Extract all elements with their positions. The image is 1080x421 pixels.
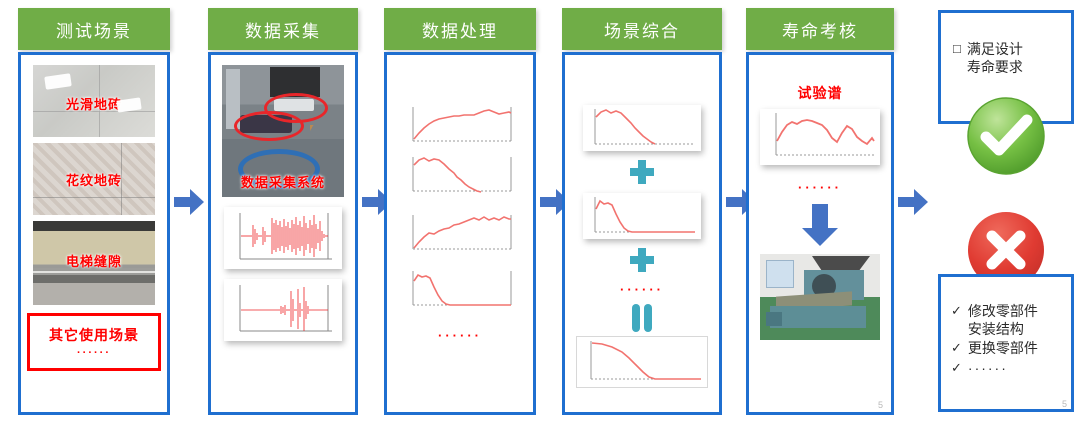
photo-caption-daq-system: 数据采集系统 bbox=[222, 172, 344, 191]
other-scenes-box: 其它使用场景 ······ bbox=[27, 313, 161, 371]
result-pass-line: □ 满足设计 寿命要求 bbox=[941, 13, 1071, 76]
flow-arrow-1 bbox=[172, 185, 206, 219]
photo-daq-system: 数据采集系统 bbox=[222, 65, 344, 197]
result-fail-item-3-text: ······ bbox=[968, 360, 1008, 378]
result-fail-item-1-line-2: 安装结构 bbox=[968, 321, 1024, 337]
photo-smooth-tile: 光滑地砖 bbox=[33, 65, 155, 137]
column-header-life-assessment: 寿命考核 bbox=[746, 8, 894, 50]
other-scenes-ellipsis: ······ bbox=[77, 347, 111, 359]
result-fail-item-3: ✓ ······ bbox=[951, 360, 1071, 378]
check-marker-icon-2: ✓ bbox=[951, 340, 962, 357]
green-check-badge-icon bbox=[966, 96, 1046, 176]
result-fail-item-1-text: 修改零部件 安装结构 bbox=[968, 303, 1038, 338]
result-pass-line-2: 寿命要求 bbox=[967, 59, 1023, 75]
photo-caption-smooth-tile: 光滑地砖 bbox=[33, 94, 155, 113]
chart-curve-drop bbox=[399, 267, 521, 313]
chart-test-spectrum bbox=[760, 109, 880, 165]
chart-synthesis-result bbox=[576, 336, 708, 388]
photo-patterned-tile: 花纹地砖 bbox=[33, 143, 155, 215]
result-fail-item-2-text: 更换零部件 bbox=[968, 340, 1038, 358]
check-marker-icon-3: ✓ bbox=[951, 360, 962, 377]
plus-icon-2 bbox=[627, 245, 657, 275]
column-body-scene-synthesis: ······ bbox=[562, 52, 722, 415]
photo-caption-patterned-tile: 花纹地砖 bbox=[33, 170, 155, 189]
page-number-right: 5 bbox=[1062, 399, 1067, 409]
result-pass-text: 满足设计 寿命要求 bbox=[967, 41, 1023, 76]
chart-vibration-waveform-2 bbox=[224, 279, 342, 341]
photo-caption-elevator-gap: 电梯缝隙 bbox=[33, 251, 155, 270]
result-fail-item-1-line-1: 修改零部件 bbox=[968, 303, 1038, 319]
result-fail-item-1: ✓ 修改零部件 安装结构 bbox=[951, 303, 1071, 338]
process-flow-diagram: 测试场景 光滑地砖 花纹地砖 电梯缝隙 其它使用场景 ······ bbox=[0, 0, 1080, 421]
data-processing-ellipsis: ······ bbox=[438, 329, 482, 342]
life-assessment-ellipsis: ······ bbox=[798, 181, 842, 194]
column-body-life-assessment: 试验谱 ······ bbox=[746, 52, 894, 415]
result-pass-line-1: 满足设计 bbox=[967, 41, 1023, 57]
chart-curve-fall bbox=[399, 153, 521, 199]
check-marker-icon-1: ✓ bbox=[951, 303, 962, 320]
column-data-acquisition: 数据采集 数据采集系统 bbox=[208, 0, 358, 421]
column-result: □ 满足设计 寿命要求 bbox=[938, 0, 1074, 421]
chart-vibration-waveform-1 bbox=[224, 207, 342, 269]
chart-synthesis-input-1 bbox=[583, 105, 701, 151]
chart-curve-rise-2 bbox=[399, 211, 521, 257]
column-header-test-scenes: 测试场景 bbox=[18, 8, 170, 50]
column-data-processing: 数据处理 bbox=[384, 0, 536, 421]
down-arrow-icon bbox=[800, 202, 840, 248]
chart-synthesis-input-2 bbox=[583, 193, 701, 239]
equals-icon bbox=[627, 304, 657, 332]
column-body-data-processing: ······ bbox=[384, 52, 536, 415]
highlight-oval-tablet bbox=[234, 111, 304, 141]
other-scenes-label: 其它使用场景 bbox=[49, 325, 139, 345]
flow-arrow-5 bbox=[896, 185, 930, 219]
photo-elevator-gap: 电梯缝隙 bbox=[33, 221, 155, 305]
result-fail-box: ✓ 修改零部件 安装结构 ✓ 更换零部件 ✓ ······ 5 bbox=[938, 274, 1074, 412]
column-life-assessment: 寿命考核 试验谱 ······ bbox=[746, 0, 894, 421]
column-body-test-scenes: 光滑地砖 花纹地砖 电梯缝隙 其它使用场景 ······ bbox=[18, 52, 170, 415]
column-scene-synthesis: 场景综合 bbox=[562, 0, 722, 421]
column-test-scenes: 测试场景 光滑地砖 花纹地砖 电梯缝隙 其它使用场景 ······ bbox=[18, 0, 170, 421]
square-marker-icon: □ bbox=[953, 41, 961, 57]
photo-vibration-test-bench bbox=[760, 254, 880, 340]
column-body-data-acquisition: 数据采集系统 bbox=[208, 52, 358, 415]
result-fail-item-2: ✓ 更换零部件 bbox=[951, 340, 1071, 358]
column-header-data-acquisition: 数据采集 bbox=[208, 8, 358, 50]
column-header-scene-synthesis: 场景综合 bbox=[562, 8, 722, 50]
plus-icon-1 bbox=[627, 157, 657, 187]
page-number-left: 5 bbox=[878, 400, 883, 410]
synthesis-ellipsis: ······ bbox=[620, 283, 664, 296]
column-header-data-processing: 数据处理 bbox=[384, 8, 536, 50]
test-spectrum-label: 试验谱 bbox=[798, 83, 843, 103]
chart-curve-rise bbox=[399, 103, 521, 149]
